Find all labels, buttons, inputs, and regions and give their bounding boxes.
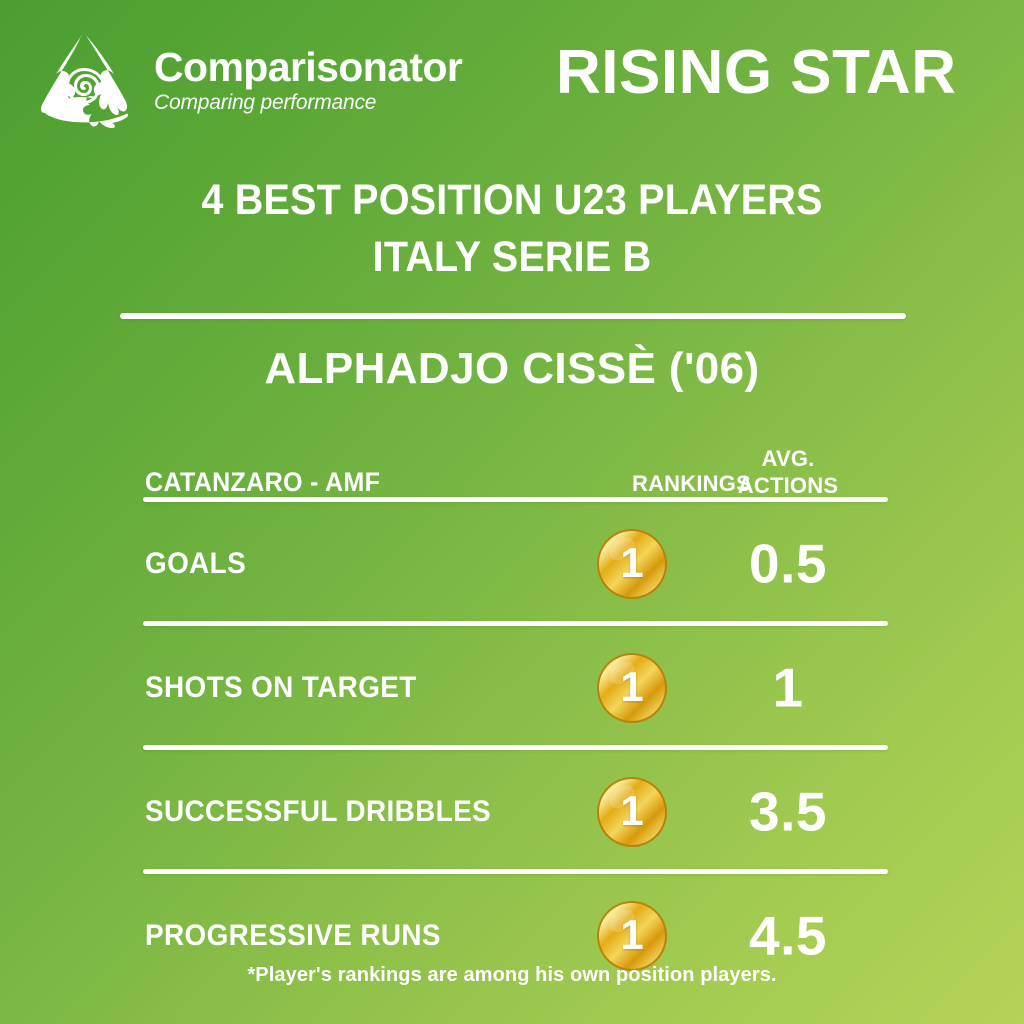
metric-label: SUCCESSFUL DRIBBLES [145, 795, 491, 829]
table-row: SHOTS ON TARGET 1 1 [143, 626, 888, 750]
table-row: SUCCESSFUL DRIBBLES 1 3.5 [143, 750, 888, 874]
table-header-row: CATANZARO - AMF RANKINGS AVG. ACTIONS [143, 440, 888, 502]
brand-header: Comparisonator Comparing performance [28, 26, 462, 130]
gold-medal-icon [595, 775, 669, 849]
table-row: GOALS [143, 502, 888, 626]
gold-medal-icon [595, 527, 669, 601]
avg-actions-value: 1 [772, 661, 803, 716]
brand-name: Comparisonator [154, 47, 462, 89]
column-header-avg-line-1: AVG. [762, 446, 815, 473]
headline-line-2: ITALY SERIE B [41, 229, 983, 286]
stats-table: CATANZARO - AMF RANKINGS AVG. ACTIONS GO… [143, 440, 888, 998]
column-header-team-position: CATANZARO - AMF [145, 467, 380, 498]
avg-actions-value: 3.5 [749, 785, 827, 840]
headline-line-1: 4 BEST POSITION U23 PLAYERS [201, 176, 822, 224]
title-divider [120, 313, 906, 319]
rising-star-card: Comparisonator Comparing performance RIS… [0, 0, 1024, 1024]
rising-star-title: RISING STAR [556, 42, 956, 104]
comparisonator-triangle-spiral-logo-icon [28, 26, 140, 130]
player-name: ALPHADJO CISSÈ ('06) [0, 345, 1024, 393]
brand-tagline: Comparing performance [154, 89, 462, 117]
brand-wordmark: Comparisonator Comparing performance [154, 39, 462, 117]
footnote: *Player's rankings are among his own pos… [0, 964, 1024, 987]
gold-medal-icon [595, 899, 669, 973]
metric-label: SHOTS ON TARGET [145, 671, 417, 705]
page-title: 4 BEST POSITION U23 PLAYERS ITALY SERIE … [41, 172, 983, 286]
avg-actions-value: 4.5 [749, 909, 827, 964]
gold-medal-icon [595, 651, 669, 725]
metric-label: GOALS [145, 547, 246, 581]
avg-actions-value: 0.5 [749, 537, 827, 592]
column-header-avg-line-2: ACTIONS [738, 473, 838, 500]
metric-label: PROGRESSIVE RUNS [145, 919, 441, 953]
